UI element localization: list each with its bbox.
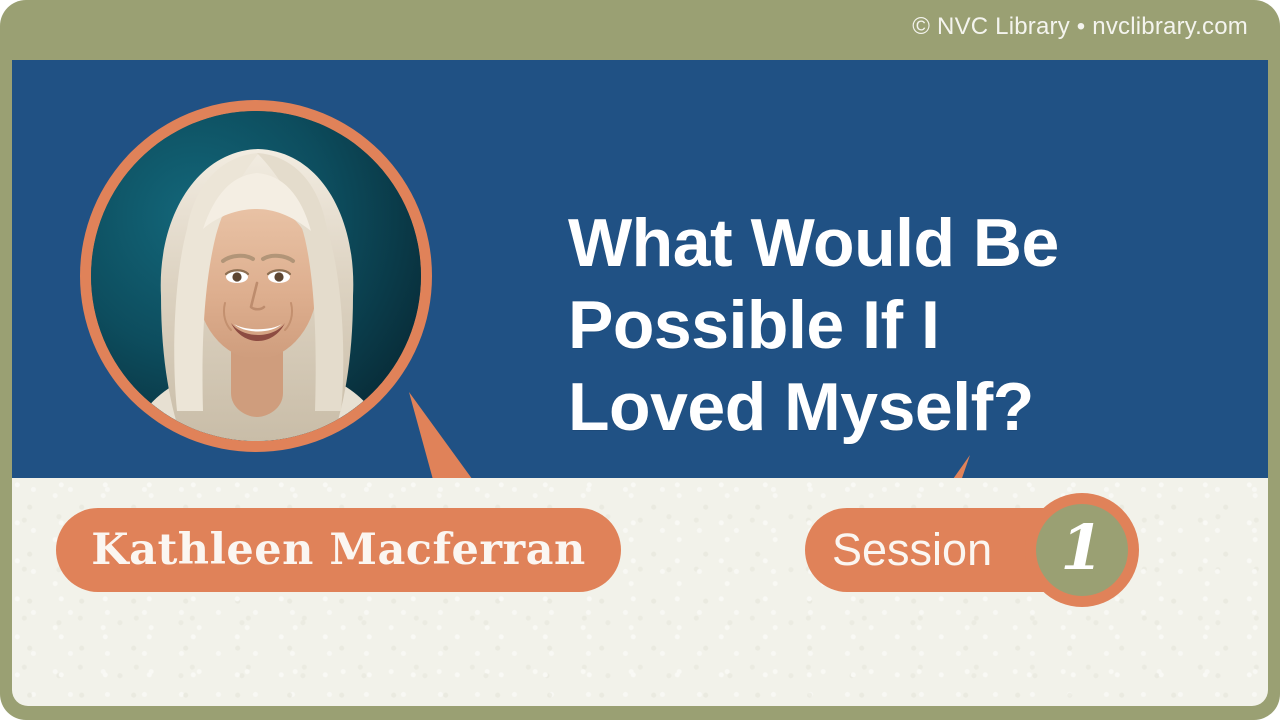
slide-canvas: © NVC Library • nvclibrary.com What Woul…: [0, 0, 1280, 720]
presenter-name-badge: Kathleen Macferran: [56, 508, 621, 592]
page-title: What Would Be Possible If I Loved Myself…: [568, 202, 1208, 448]
session-label: Session: [832, 508, 992, 592]
session-number-circle: 1: [1036, 504, 1128, 596]
presenter-portrait: [80, 100, 432, 452]
portrait-photo: [91, 111, 421, 441]
portrait-illustration: [91, 111, 421, 441]
copyright-text: © NVC Library • nvclibrary.com: [912, 13, 1248, 41]
session-number-label: 1: [1060, 517, 1103, 579]
presenter-name-label: Kathleen Macferran: [91, 525, 586, 575]
session-number-ring: 1: [1025, 493, 1139, 607]
